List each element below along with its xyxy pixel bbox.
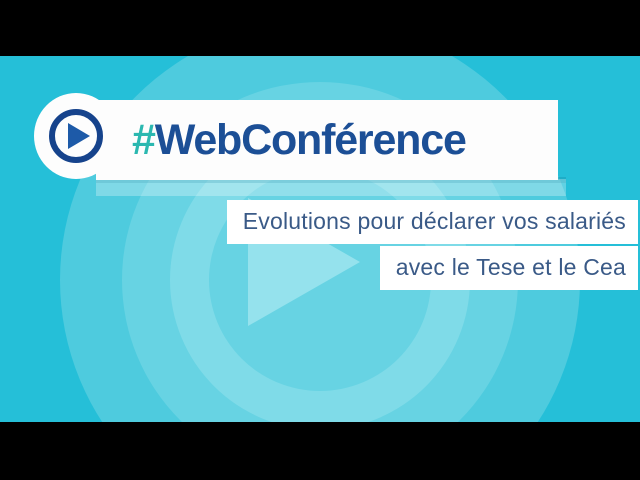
title-bar-shadow [96,179,566,196]
subtitle-block: Evolutions pour déclarer vos salariés av… [0,200,640,290]
letterbox-bottom [0,422,640,480]
letterbox-top [0,0,640,56]
title-bar: #WebConférence [96,100,558,180]
title-word: WebConférence [155,116,466,164]
thumbnail-canvas: #WebConférence Evolutions pour déclarer … [0,56,640,422]
play-triangle [68,123,90,149]
video-thumbnail: #WebConférence Evolutions pour déclarer … [0,0,640,480]
subtitle-line-2: avec le Tese et le Cea [380,246,638,290]
title-lockup: #WebConférence [0,56,640,196]
play-circle-icon [34,93,118,179]
subtitle-line-1: Evolutions pour déclarer vos salariés [227,200,638,244]
page-title: #WebConférence [132,119,466,162]
play-ring [49,109,103,163]
hashtag-icon: # [132,116,155,164]
